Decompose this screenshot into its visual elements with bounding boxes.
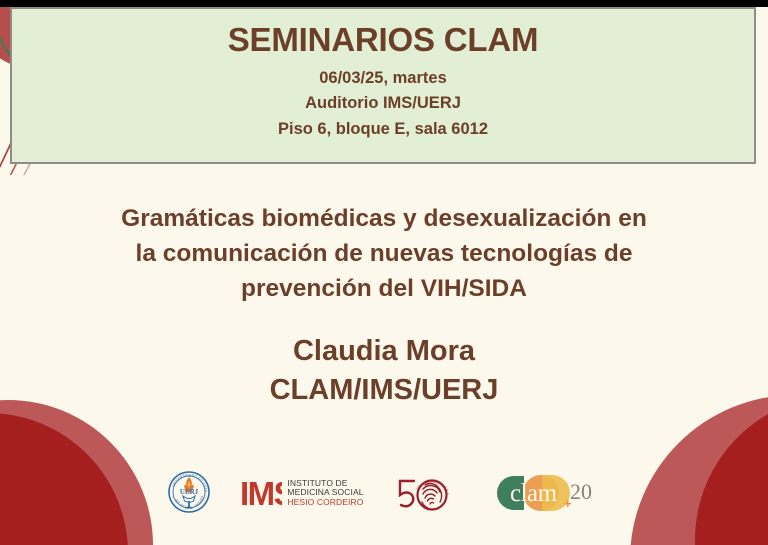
header-line-venue: Auditorio IMS/UERJ <box>305 91 461 117</box>
talk-title-line-3: prevención del VIH/SIDA <box>74 272 694 307</box>
seminar-title: SEMINARIOS CLAM <box>228 23 539 58</box>
logo-clam: clam + 20 <box>494 465 602 521</box>
svg-text:IMS: IMS <box>240 475 282 511</box>
header-line-room: Piso 6, bloque E, sala 6012 <box>278 117 488 143</box>
svg-text:20: 20 <box>570 479 592 504</box>
speaker-affiliation: CLAM/IMS/UERJ <box>270 371 499 409</box>
talk-title-line-2: la comunicación de nuevas tecnologías de <box>74 237 694 272</box>
talk-title-line-1: Gramáticas biomédicas y desexualización … <box>74 202 694 237</box>
ims-line-3: HESIO CORDEIRO <box>287 498 363 507</box>
logo-ims: IMS INSTITUTO DE MEDICINA SOCIAL HESIO C… <box>240 465 363 521</box>
ims-text-block: INSTITUTO DE MEDICINA SOCIAL HESIO CORDE… <box>287 479 363 507</box>
header-line-date: 06/03/25, martes <box>319 66 447 92</box>
poster-canvas: SEMINARIOS CLAM 06/03/25, martes Auditor… <box>0 0 768 545</box>
logo-row: UERJ UNIVERSIDADE DO ESTADO DO RIO DE JA… <box>0 462 768 524</box>
ims-mark-icon: IMS <box>240 475 282 511</box>
talk-title: Gramáticas biomédicas y desexualización … <box>74 202 694 306</box>
speaker-block: Claudia Mora CLAM/IMS/UERJ <box>270 332 499 409</box>
logo-anniversary-50: PÓS-GRADUAÇÃO IMS <box>392 465 464 521</box>
logo-uerj: UERJ UNIVERSIDADE DO ESTADO DO RIO DE JA… <box>166 465 212 521</box>
speaker-name: Claudia Mora <box>270 332 499 370</box>
fifty-years-fingerprint-icon: PÓS-GRADUAÇÃO IMS <box>392 469 464 517</box>
header-band: SEMINARIOS CLAM 06/03/25, martes Auditor… <box>10 7 756 164</box>
svg-text:clam: clam <box>510 480 558 507</box>
svg-text:UERJ: UERJ <box>180 488 199 496</box>
top-black-bar <box>0 0 768 7</box>
uerj-seal-icon: UERJ UNIVERSIDADE DO ESTADO DO RIO DE JA… <box>166 469 212 517</box>
clam-wordmark-icon: clam + 20 <box>494 468 602 518</box>
